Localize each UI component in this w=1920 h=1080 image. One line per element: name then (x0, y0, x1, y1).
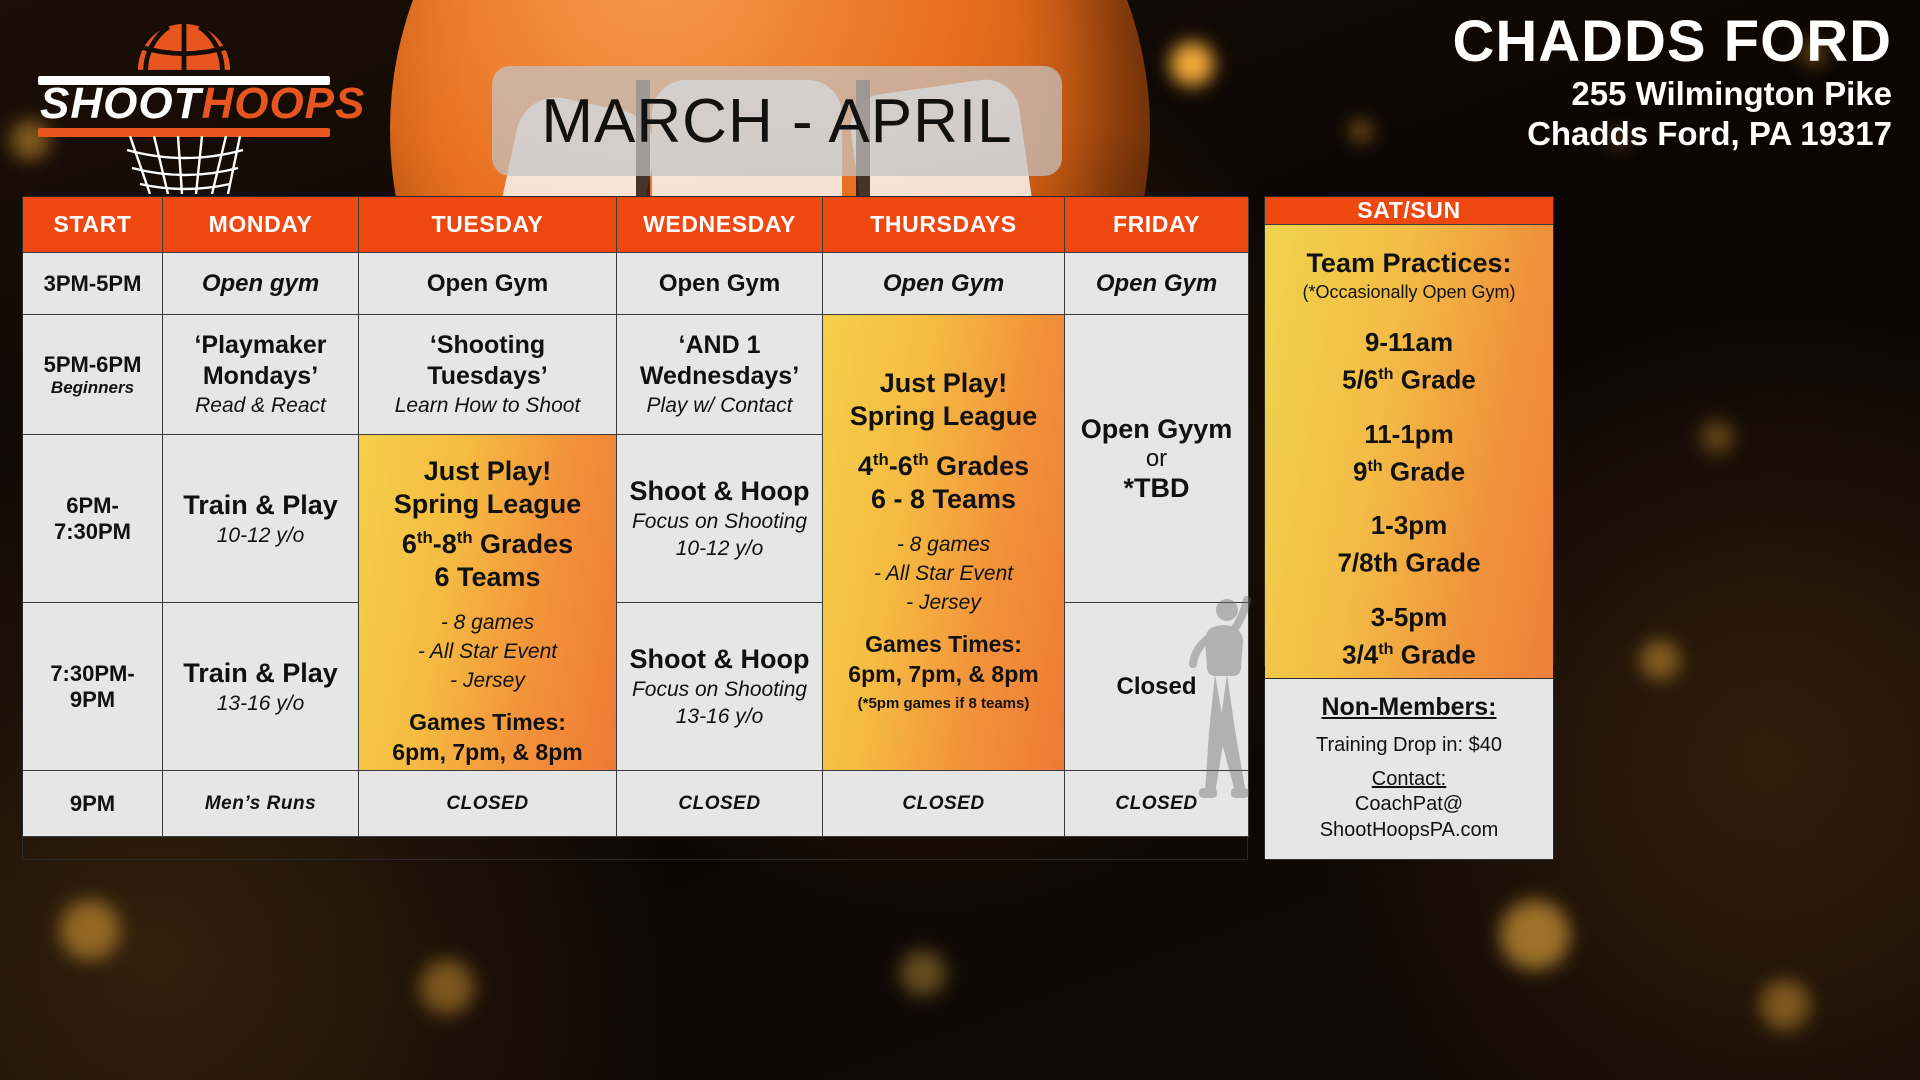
logo-word-shoot: SHOOT (40, 79, 201, 128)
bokeh-light (900, 950, 946, 996)
weekend-body: Team Practices: (*Occasionally Open Gym)… (1265, 225, 1553, 685)
weekend-slot: 11-1pm 9th Grade (1275, 418, 1543, 488)
bokeh-light (1170, 42, 1214, 86)
column-header-thursdays: THURSDAYS (823, 197, 1065, 253)
thu-bullets: - 8 games - All Star Event - Jersey (874, 530, 1013, 617)
tue-bullets: - 8 games - All Star Event - Jersey (418, 608, 557, 695)
weekend-header: SAT/SUN (1265, 197, 1553, 225)
cell-tue-5pm: ‘Shooting Tuesdays’ Learn How to Shoot (359, 315, 617, 435)
time-label-3pm-5pm: 3PM-5PM (23, 253, 163, 315)
non-members-dropin: Training Drop in: $40 (1273, 732, 1545, 758)
hoop-net-icon (124, 136, 246, 194)
logo-word-hoops: HOOPS (201, 79, 365, 128)
weekend-subtitle: (*Occasionally Open Gym) (1275, 280, 1543, 304)
cell-thu-spring-league: Just Play! Spring League 4th-6th Grades … (823, 315, 1065, 771)
cell-wed-3pm: Open Gym (617, 253, 823, 315)
cell-wed-9pm: Closed (617, 771, 823, 837)
cell-fri-730pm: Closed (1065, 603, 1249, 771)
venue-city: CHADDS FORD (1452, 10, 1892, 74)
weekend-slot: 3-5pm 3/4th Grade (1275, 601, 1543, 671)
cell-fri-9pm: Closed (1065, 771, 1249, 837)
cell-mon-5pm: ‘Playmaker Mondays’ Read & React (163, 315, 359, 435)
tue-game-times: Games Times: 6pm, 7pm, & 8pm (392, 707, 582, 767)
column-header-wednesday: WEDNESDAY (617, 197, 823, 253)
cell-tue-9pm: Closed (359, 771, 617, 837)
bokeh-light (1350, 120, 1372, 142)
cell-tue-3pm: Open Gym (359, 253, 617, 315)
column-header-monday: MONDAY (163, 197, 359, 253)
weekend-panel: SAT/SUN Team Practices: (*Occasionally O… (1264, 196, 1554, 666)
venue-address-line2: Chadds Ford, PA 19317 (1452, 114, 1892, 154)
non-members-contact-label: Contact: (1273, 768, 1545, 791)
venue-address-line1: 255 Wilmington Pike (1452, 74, 1892, 114)
bokeh-light (420, 960, 474, 1014)
bokeh-light (60, 900, 120, 960)
bokeh-light (1500, 900, 1570, 970)
time-label-730pm-9pm: 7:30PM-9PM (23, 603, 163, 771)
cell-fri-3pm: Open Gym (1065, 253, 1249, 315)
bokeh-light (1640, 640, 1680, 680)
column-header-friday: FRIDAY (1065, 197, 1249, 253)
non-members-panel: Non-Members: Training Drop in: $40 Conta… (1264, 678, 1554, 860)
weekly-schedule-table: START MONDAY TUESDAY WEDNESDAY THURSDAYS… (22, 196, 1248, 860)
column-header-tuesday: TUESDAY (359, 197, 617, 253)
logo-wordmark: SHOOTHOOPS (40, 80, 330, 128)
thu-game-times: Games Times: 6pm, 7pm, & 8pm (*5pm games… (848, 629, 1038, 719)
venue-info: CHADDS FORD 255 Wilmington Pike Chadds F… (1452, 10, 1892, 154)
column-header-start: START (23, 197, 163, 253)
cell-mon-3pm: Open gym (163, 253, 359, 315)
weekend-title: Team Practices: (1275, 247, 1543, 280)
month-banner: MARCH - APRIL (492, 66, 1062, 176)
cell-wed-730pm: Shoot & Hoop Focus on Shooting 13-16 y/o (617, 603, 823, 771)
cell-tue-spring-league: Just Play! Spring League 6th-8th Grades … (359, 435, 617, 771)
non-members-title: Non-Members: (1273, 693, 1545, 722)
weekend-slot-grade: 5/6th Grade (1275, 358, 1543, 396)
cell-thu-9pm: Closed (823, 771, 1065, 837)
non-members-email-line2: ShootHoopsPA.com (1273, 817, 1545, 843)
time-label-9pm: 9PM (23, 771, 163, 837)
bokeh-light (1700, 420, 1734, 454)
weekend-slot: 9-11am 5/6th Grade (1275, 326, 1543, 396)
weekend-slot: 1-3pm 7/8th Grade (1275, 509, 1543, 579)
time-label-5pm-6pm: 5PM-6PM Beginners (23, 315, 163, 435)
weekend-slot-grade: 9th Grade (1275, 450, 1543, 488)
cell-mon-6pm: Train & Play 10-12 y/o (163, 435, 359, 603)
cell-fri-open-gyym: Open Gyym or *TBD (1065, 315, 1249, 603)
basketball-icon (136, 18, 232, 70)
thu-grades: 4th-6th Grades (858, 443, 1029, 483)
time-label-6pm-730pm: 6PM-7:30PM (23, 435, 163, 603)
weekend-slot-grade: 7/8th Grade (1275, 541, 1543, 579)
cell-wed-6pm: Shoot & Hoop Focus on Shooting 10-12 y/o (617, 435, 823, 603)
cell-thu-3pm: Open Gym (823, 253, 1065, 315)
cell-wed-5pm: ‘AND 1 Wednesdays’ Play w/ Contact (617, 315, 823, 435)
weekend-slot-grade: 3/4th Grade (1275, 633, 1543, 671)
shoot-hoops-logo: SHOOTHOOPS (28, 18, 338, 193)
cell-mon-9pm: Men’s Runs (163, 771, 359, 837)
month-banner-title: MARCH - APRIL (541, 86, 1012, 157)
non-members-email-line1: CoachPat@ (1273, 791, 1545, 817)
cell-mon-730pm: Train & Play 13-16 y/o (163, 603, 359, 771)
bokeh-light (1760, 980, 1810, 1030)
tue-grades: 6th-8th Grades (402, 521, 573, 561)
